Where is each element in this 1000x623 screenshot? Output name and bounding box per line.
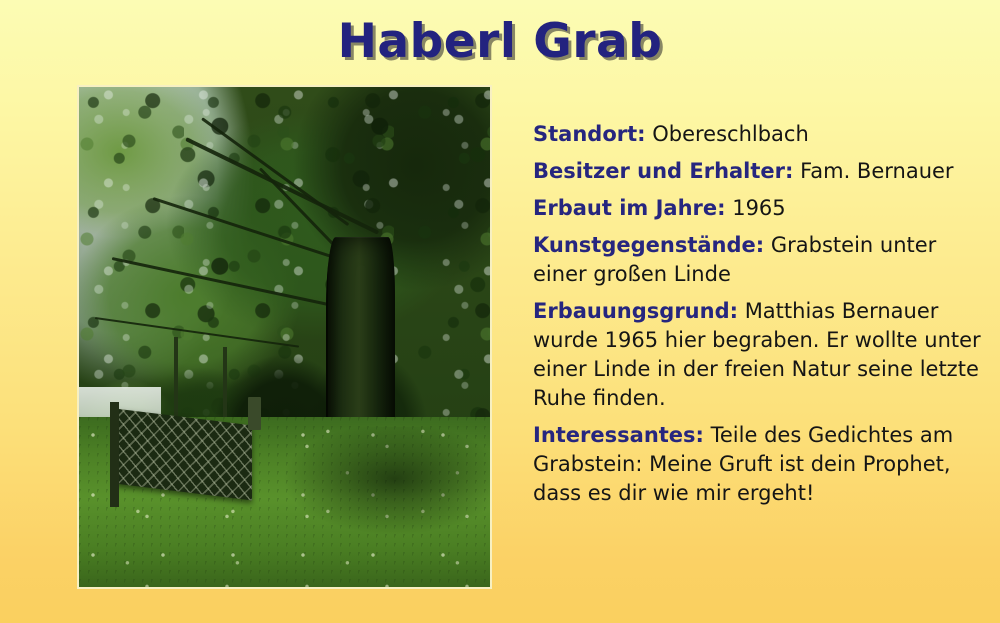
detail-value: Obereschlbach [646, 122, 809, 146]
page-title: Haberl Grab [0, 14, 1000, 69]
detail-label: Kunstgegenstände: [533, 233, 764, 257]
lattice-post [110, 402, 119, 507]
detail-label: Besitzer und Erhalter: [533, 159, 793, 183]
tree-shadow [252, 427, 490, 557]
detail-erbauungsgrund: Erbauungsgrund: Matthias Bernauer wurde … [533, 297, 985, 413]
slide-root: Haberl Grab Standort: Obereschl [0, 0, 1000, 623]
detail-standort: Standort: Obereschlbach [533, 120, 985, 149]
details-list: Standort: Obereschlbach Besitzer und Erh… [533, 120, 985, 508]
detail-label: Erbauungsgrund: [533, 299, 738, 323]
detail-label: Standort: [533, 122, 646, 146]
detail-kunstgegenstaende: Kunstgegenstände: Grabstein unter einer … [533, 231, 985, 289]
photo-frame [77, 85, 492, 589]
gravestone [248, 397, 261, 430]
detail-value: Fam. Bernauer [793, 159, 953, 183]
detail-besitzer: Besitzer und Erhalter: Fam. Bernauer [533, 157, 985, 186]
grave-photo [79, 87, 490, 587]
detail-erbaut: Erbaut im Jahre: 1965 [533, 194, 985, 223]
detail-interessantes: Interessantes: Teile des Gedichtes am Gr… [533, 421, 985, 508]
detail-label: Erbaut im Jahre: [533, 196, 726, 220]
detail-label: Interessantes: [533, 423, 704, 447]
detail-value: 1965 [726, 196, 786, 220]
